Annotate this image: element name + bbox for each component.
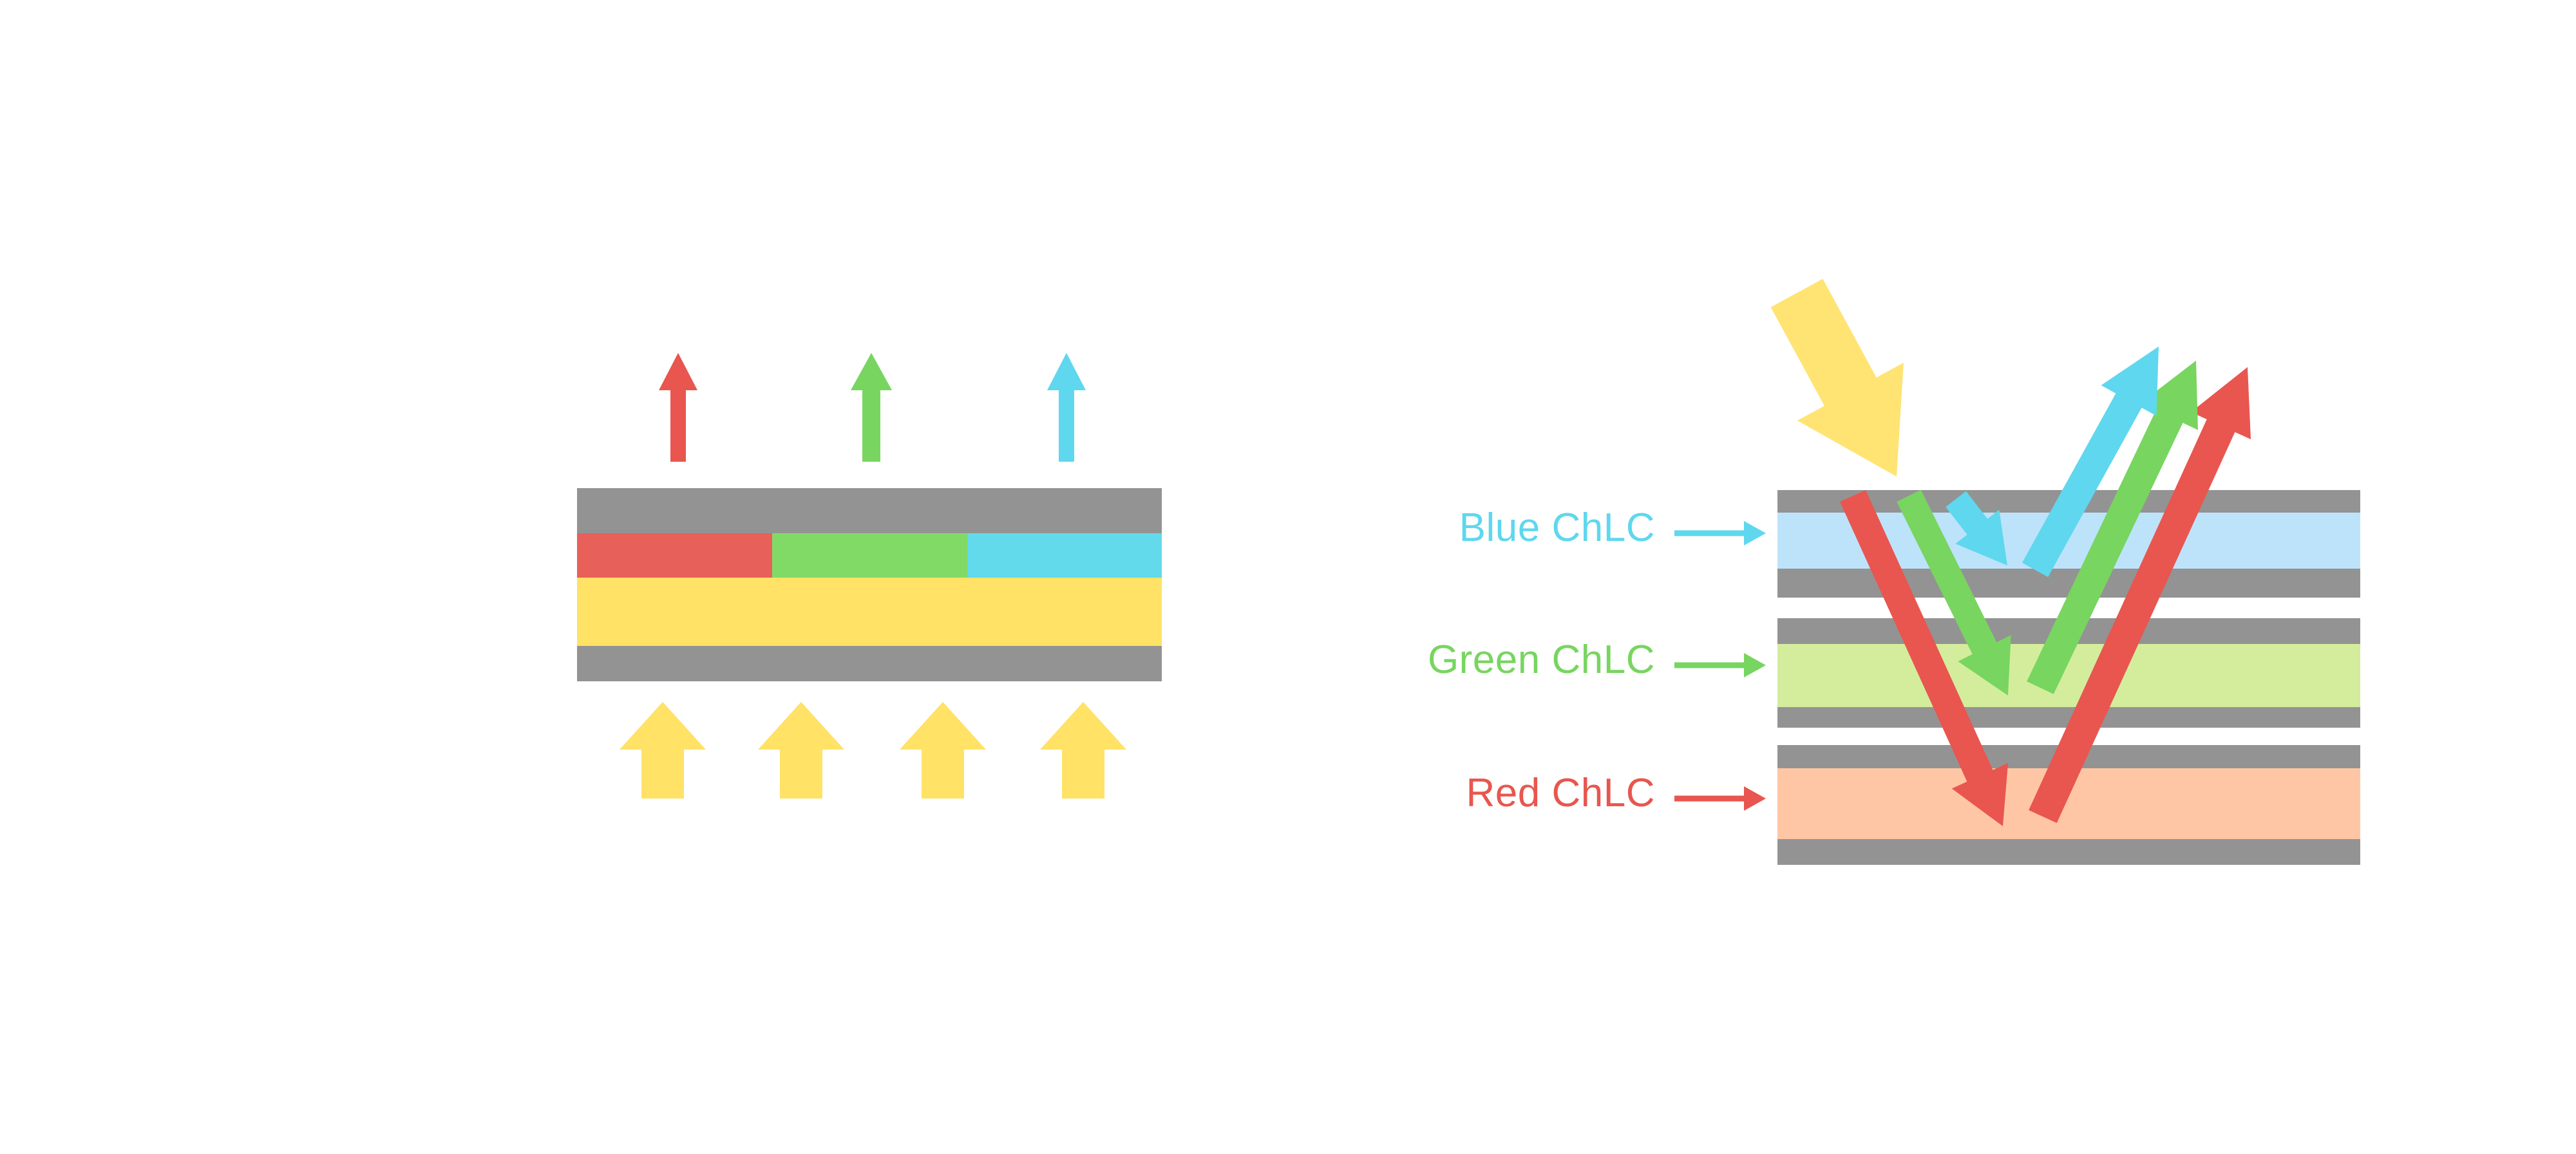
emitted-green-arrow — [851, 353, 892, 462]
green-chlc-cell-pointer-icon-head — [1744, 653, 1766, 677]
backlight-arrow-3 — [900, 702, 986, 799]
blue-chlc-cell-pointer-icon — [1674, 521, 1766, 545]
top-electrode — [577, 488, 1162, 533]
backlight-arrow-4 — [1040, 702, 1126, 799]
transmissive-backlit-color-filter-stack — [577, 353, 1162, 799]
bottom-electrode — [577, 646, 1162, 681]
backlight-arrows — [620, 702, 1126, 799]
diagram-canvas: Blue ChLCGreen ChLCRed ChLC — [0, 0, 2576, 1154]
blue-chlc-cell-pointer-icon-head — [1744, 521, 1766, 545]
emitted-red-arrow — [659, 353, 697, 462]
green-chlc-cell-pointer-icon — [1674, 653, 1766, 677]
chlc-layer-labels: Blue ChLCGreen ChLCRed ChLC — [1428, 506, 1766, 815]
emitted-blue-arrow — [1047, 353, 1086, 462]
incident-light-group — [1771, 279, 1904, 477]
stacked-chlc-reflective-display: Blue ChLCGreen ChLCRed ChLC — [1428, 279, 2360, 865]
chlc-diagram: Blue ChLCGreen ChLCRed ChLC — [0, 0, 2576, 1154]
incident-white-light-arrow — [1771, 279, 1904, 477]
color-filter-row — [577, 533, 1162, 578]
blue-color-filter — [967, 533, 1162, 578]
red-chlc-cell-label: Red ChLC — [1466, 771, 1655, 815]
blue-chlc-cell-label: Blue ChLC — [1459, 506, 1655, 550]
red-cell-bottom-electrode — [1777, 839, 2360, 865]
left-device-stack — [577, 488, 1162, 681]
green-color-filter — [772, 533, 967, 578]
backlight-arrow-1 — [620, 702, 706, 799]
emitted-light-arrows — [659, 353, 1086, 462]
red-color-filter — [577, 533, 772, 578]
green-chlc-cell-label: Green ChLC — [1428, 638, 1655, 682]
red-chlc-cell-pointer-icon-head — [1744, 786, 1766, 811]
backlight-arrow-2 — [758, 702, 844, 799]
backlight-layer — [577, 578, 1162, 646]
red-chlc-cell-pointer-icon — [1674, 786, 1766, 811]
